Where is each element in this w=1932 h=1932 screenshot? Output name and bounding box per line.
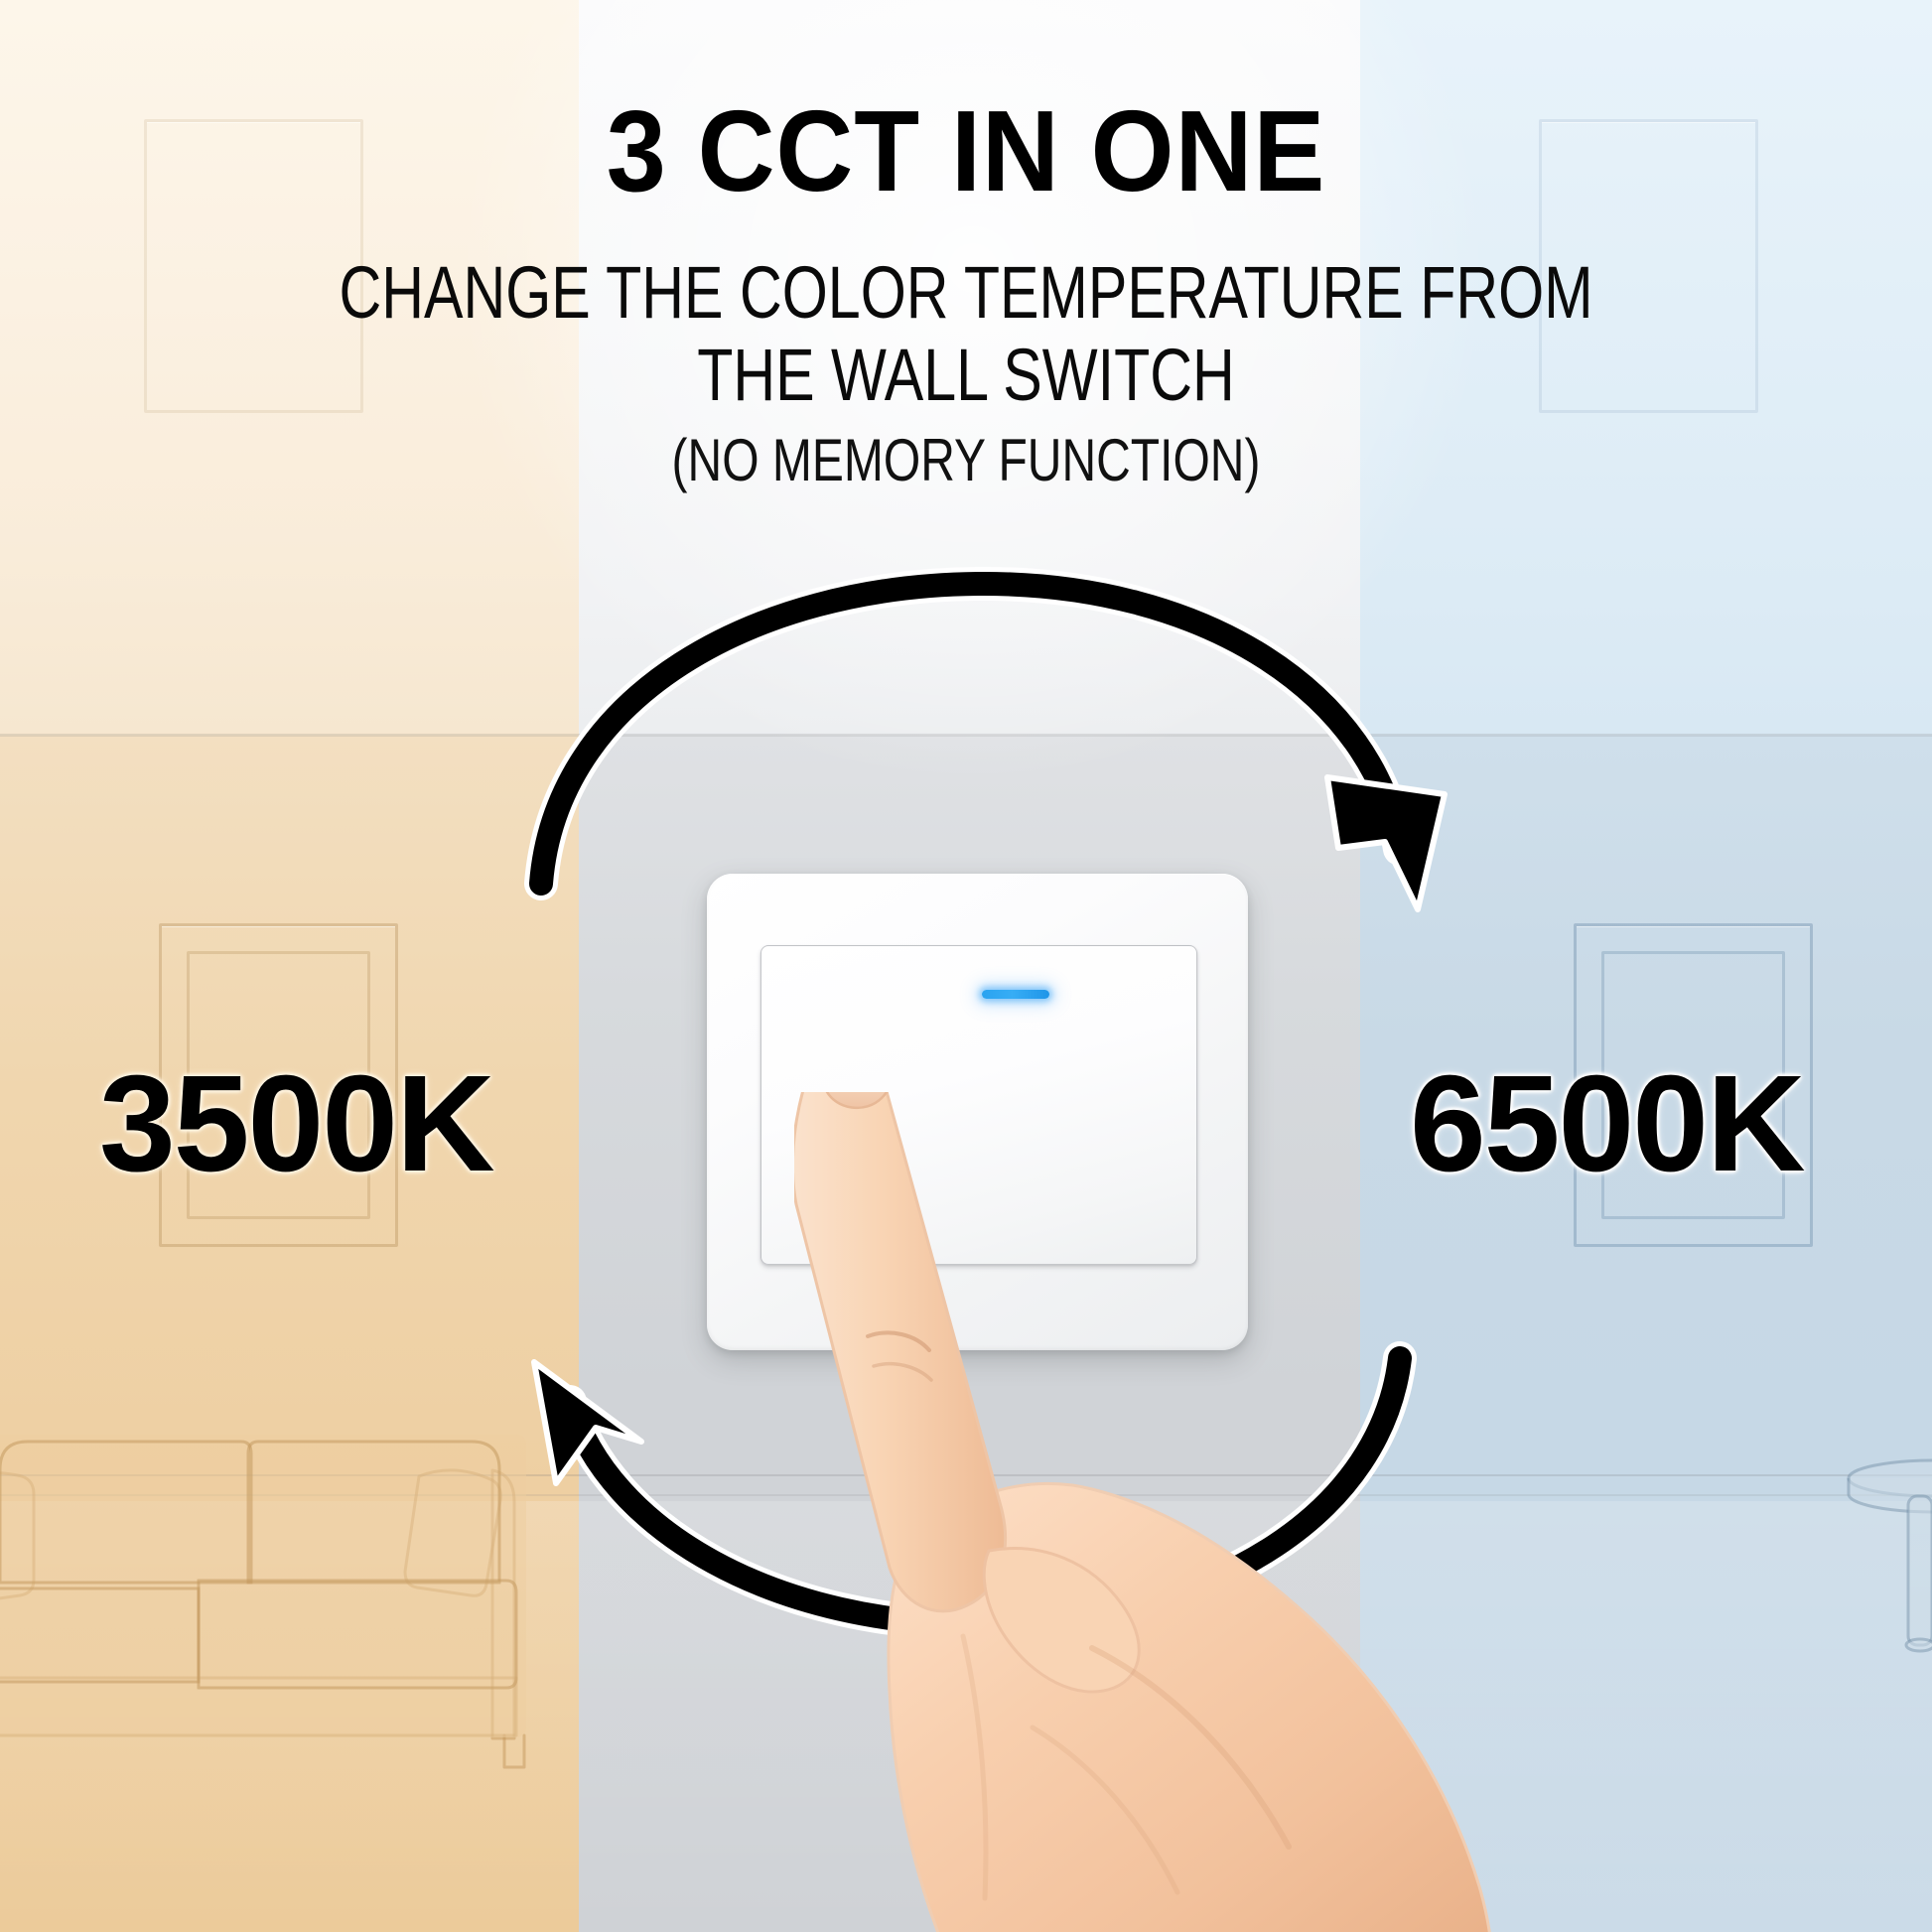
wall-switch[interactable]	[707, 874, 1248, 1350]
subtitle: CHANGE THE COLOR TEMPERATURE FROM THE WA…	[194, 208, 1739, 417]
cct-label-warm: 3500K	[99, 1055, 493, 1192]
sofa-icon	[0, 1375, 556, 1792]
page-title: 3 CCT IN ONE	[68, 0, 1864, 208]
switch-rocker-button[interactable]	[760, 945, 1197, 1265]
ceiling-seam-line	[0, 734, 1932, 737]
cct-label-cool: 6500K	[1410, 1055, 1804, 1192]
infographic-canvas: 3 CCT IN ONE CHANGE THE COLOR TEMPERATUR…	[0, 0, 1932, 1932]
headline-block: 3 CCT IN ONE CHANGE THE COLOR TEMPERATUR…	[0, 0, 1932, 490]
led-indicator-icon	[982, 990, 1049, 999]
memory-function-note: (NO MEMORY FUNCTION)	[194, 417, 1739, 490]
side-table-icon	[1817, 1445, 1932, 1693]
